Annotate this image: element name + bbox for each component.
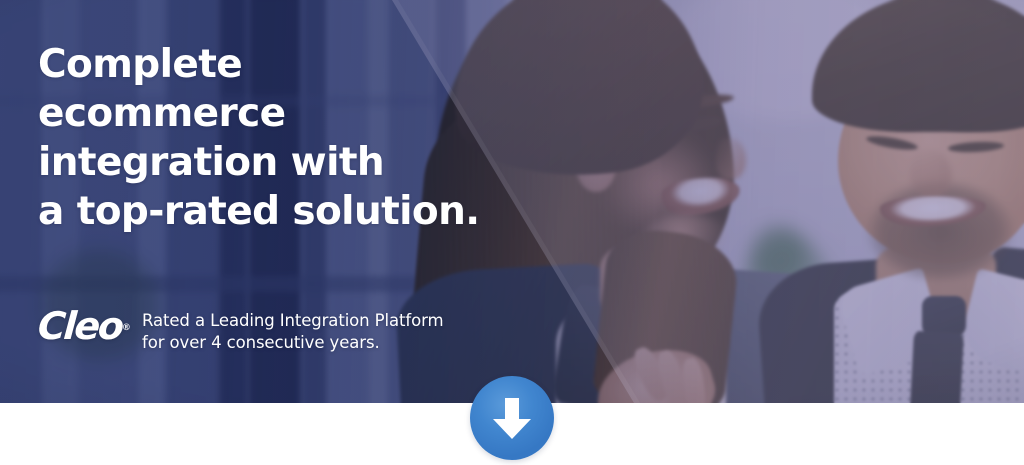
brand-tagline: Rated a Leading Integration Platform for… xyxy=(142,310,443,353)
banner-page: Complete ecommerce integration with a to… xyxy=(0,0,1024,465)
hero-headline: Complete ecommerce integration with a to… xyxy=(38,40,558,236)
cleo-logo[interactable]: Cleo® xyxy=(37,306,126,346)
registered-trademark-icon: ® xyxy=(122,308,131,348)
hero-banner: Complete ecommerce integration with a to… xyxy=(0,0,1024,403)
cleo-logo-text: Cleo xyxy=(36,304,123,348)
brand-row: Cleo® Rated a Leading Integration Platfo… xyxy=(38,306,443,353)
scroll-down-button[interactable] xyxy=(470,376,554,460)
arrow-down-icon xyxy=(489,394,535,442)
